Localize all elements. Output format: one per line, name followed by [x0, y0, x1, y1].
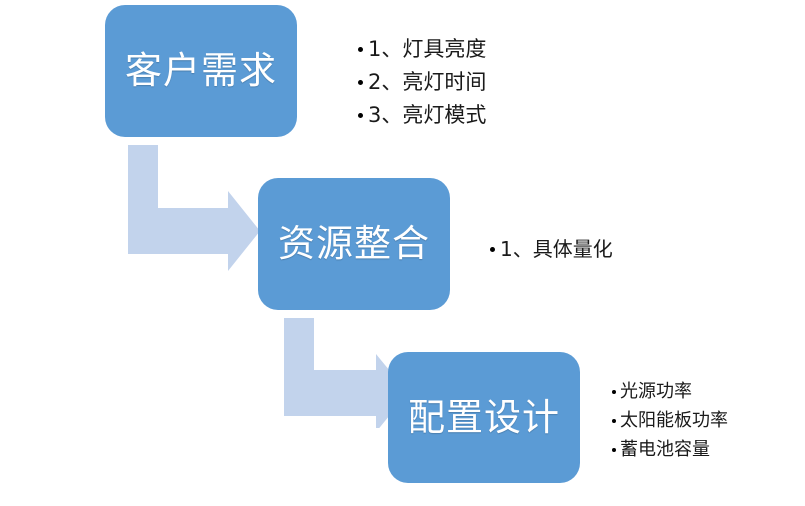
bullet-dot-icon	[358, 113, 363, 118]
list-item: 光源功率	[612, 377, 728, 406]
process-box-config-label: 配置设计	[404, 394, 564, 441]
process-box-resources-label: 资源整合	[274, 220, 434, 267]
list-item: 蓄电池容量	[612, 435, 728, 464]
list-item-label: 1、灯具亮度	[368, 33, 486, 66]
bullet-dot-icon	[358, 80, 363, 85]
diagram-canvas: 客户需求 1、灯具亮度 2、亮灯时间 3、亮灯模式 资源整合 1、具体量化	[0, 0, 805, 506]
list-item: 2、亮灯时间	[358, 66, 486, 99]
list-item: 1、灯具亮度	[358, 33, 486, 66]
process-box-requirements-label: 客户需求	[121, 47, 281, 94]
list-item-label: 光源功率	[620, 377, 692, 406]
elbow-arrow-icon	[120, 145, 270, 275]
list-item-label: 太阳能板功率	[620, 406, 728, 435]
bullet-dot-icon	[612, 419, 616, 423]
process-box-resources[interactable]: 资源整合	[258, 178, 450, 310]
process-box-requirements[interactable]: 客户需求	[105, 5, 297, 137]
list-item: 太阳能板功率	[612, 406, 728, 435]
bullet-dot-icon	[358, 47, 363, 52]
bullet-list-resources: 1、具体量化	[490, 234, 613, 265]
list-item: 3、亮灯模式	[358, 99, 486, 132]
bullet-dot-icon	[612, 448, 616, 452]
list-item: 1、具体量化	[490, 234, 613, 265]
bullet-list-requirements: 1、灯具亮度 2、亮灯时间 3、亮灯模式	[358, 33, 486, 132]
list-item-label: 2、亮灯时间	[368, 66, 486, 99]
bullet-dot-icon	[490, 247, 495, 252]
bullet-list-config: 光源功率 太阳能板功率 蓄电池容量	[612, 377, 728, 464]
list-item-label: 3、亮灯模式	[368, 99, 486, 132]
list-item-label: 蓄电池容量	[620, 435, 710, 464]
elbow-arrow-requirements-to-resources	[120, 145, 270, 275]
process-box-config[interactable]: 配置设计	[388, 352, 580, 483]
bullet-dot-icon	[612, 390, 616, 394]
list-item-label: 1、具体量化	[500, 234, 613, 265]
